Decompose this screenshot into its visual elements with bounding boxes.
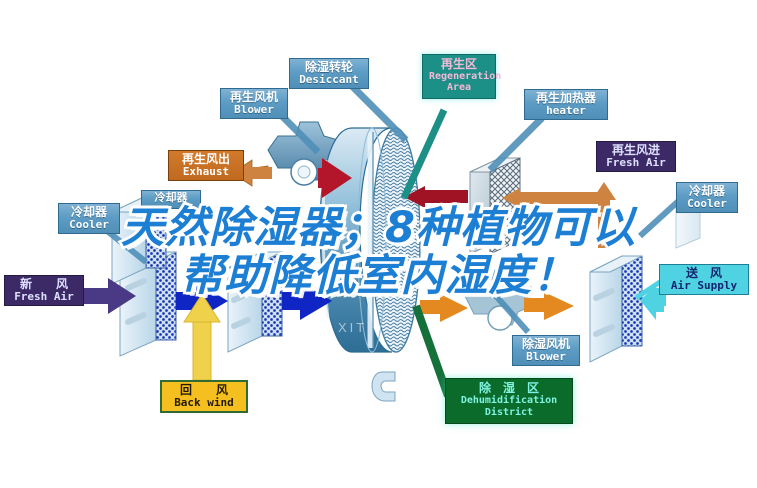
label-regeneration-fresh-air-in-cn: 再生风进	[603, 144, 669, 157]
label-desiccant-wheel: 除湿转轮 Desiccant	[289, 58, 369, 89]
label-cooler-right-en: Cooler	[682, 198, 732, 210]
label-fresh-air-in-en: Fresh Air	[11, 291, 77, 303]
label-dehumidification-district: 除 湿 区 Dehumidification District	[445, 378, 573, 424]
schematic-diagram: XIT	[0, 0, 757, 488]
label-regeneration-exhaust: 再生风出 Exhaust	[168, 150, 244, 181]
label-regeneration-area-en: Regeneration Area	[429, 71, 489, 94]
label-regeneration-area-cn: 再生区	[429, 58, 489, 71]
flow-arrow-dry-air-1	[420, 294, 468, 322]
label-regeneration-blower-cn: 再生风机	[226, 91, 282, 104]
label-regeneration-blower-en: Blower	[226, 104, 282, 116]
label-air-supply-en: Air Supply	[666, 280, 742, 292]
label-cooler-upper-left-cn: 冷却器	[147, 193, 195, 205]
supply-coil-right	[590, 256, 642, 362]
label-air-supply: 送 风 Air Supply	[659, 264, 749, 295]
label-regeneration-exhaust-en: Exhaust	[174, 166, 238, 178]
dehumidifier-schematic-image: XIT 除湿转轮 Desiccant 再生风机 Blower 再生区 Regen…	[0, 0, 757, 488]
label-cooler-upper-left: 冷却器	[141, 190, 201, 209]
label-regeneration-heater: 再生加热器 heater	[524, 89, 608, 120]
regeneration-heater-unit	[470, 158, 520, 254]
label-regeneration-blower: 再生风机 Blower	[220, 88, 288, 119]
label-back-wind: 回 风 Back wind	[160, 380, 248, 413]
label-dehumidification-blower-cn: 除湿风机	[518, 338, 574, 351]
label-fresh-air-in: 新 风 Fresh Air	[4, 275, 84, 306]
label-fresh-air-in-cn: 新 风	[11, 278, 77, 291]
label-regeneration-area: 再生区 Regeneration Area	[422, 54, 496, 99]
label-dehumidification-district-en: Dehumidification District	[453, 395, 565, 419]
label-desiccant-wheel-en: Desiccant	[295, 74, 363, 86]
label-dehumidification-blower: 除湿风机 Blower	[512, 335, 580, 366]
label-back-wind-cn: 回 风	[169, 384, 239, 397]
label-desiccant-wheel-cn: 除湿转轮	[295, 61, 363, 74]
label-back-wind-en: Back wind	[169, 397, 239, 409]
process-coil-left	[228, 252, 282, 352]
label-cooler-left: 冷却器 Cooler	[58, 203, 120, 234]
label-regeneration-heater-cn: 再生加热器	[530, 92, 602, 105]
label-cooler-left-cn: 冷却器	[64, 206, 114, 219]
label-air-supply-cn: 送 风	[666, 267, 742, 280]
label-regeneration-fresh-air-in: 再生风进 Fresh Air	[596, 141, 676, 172]
label-regeneration-heater-en: heater	[530, 105, 602, 117]
label-cooler-right-cn: 冷却器	[682, 185, 732, 198]
label-cooler-left-en: Cooler	[64, 219, 114, 231]
label-regeneration-exhaust-cn: 再生风出	[174, 153, 238, 166]
watermark-text: XIT	[338, 320, 367, 335]
label-regeneration-fresh-air-in-en: Fresh Air	[603, 157, 669, 169]
label-cooler-right: 冷却器 Cooler	[676, 182, 738, 213]
label-dehumidification-district-cn: 除 湿 区	[453, 382, 565, 395]
label-dehumidification-blower-en: Blower	[518, 351, 574, 363]
